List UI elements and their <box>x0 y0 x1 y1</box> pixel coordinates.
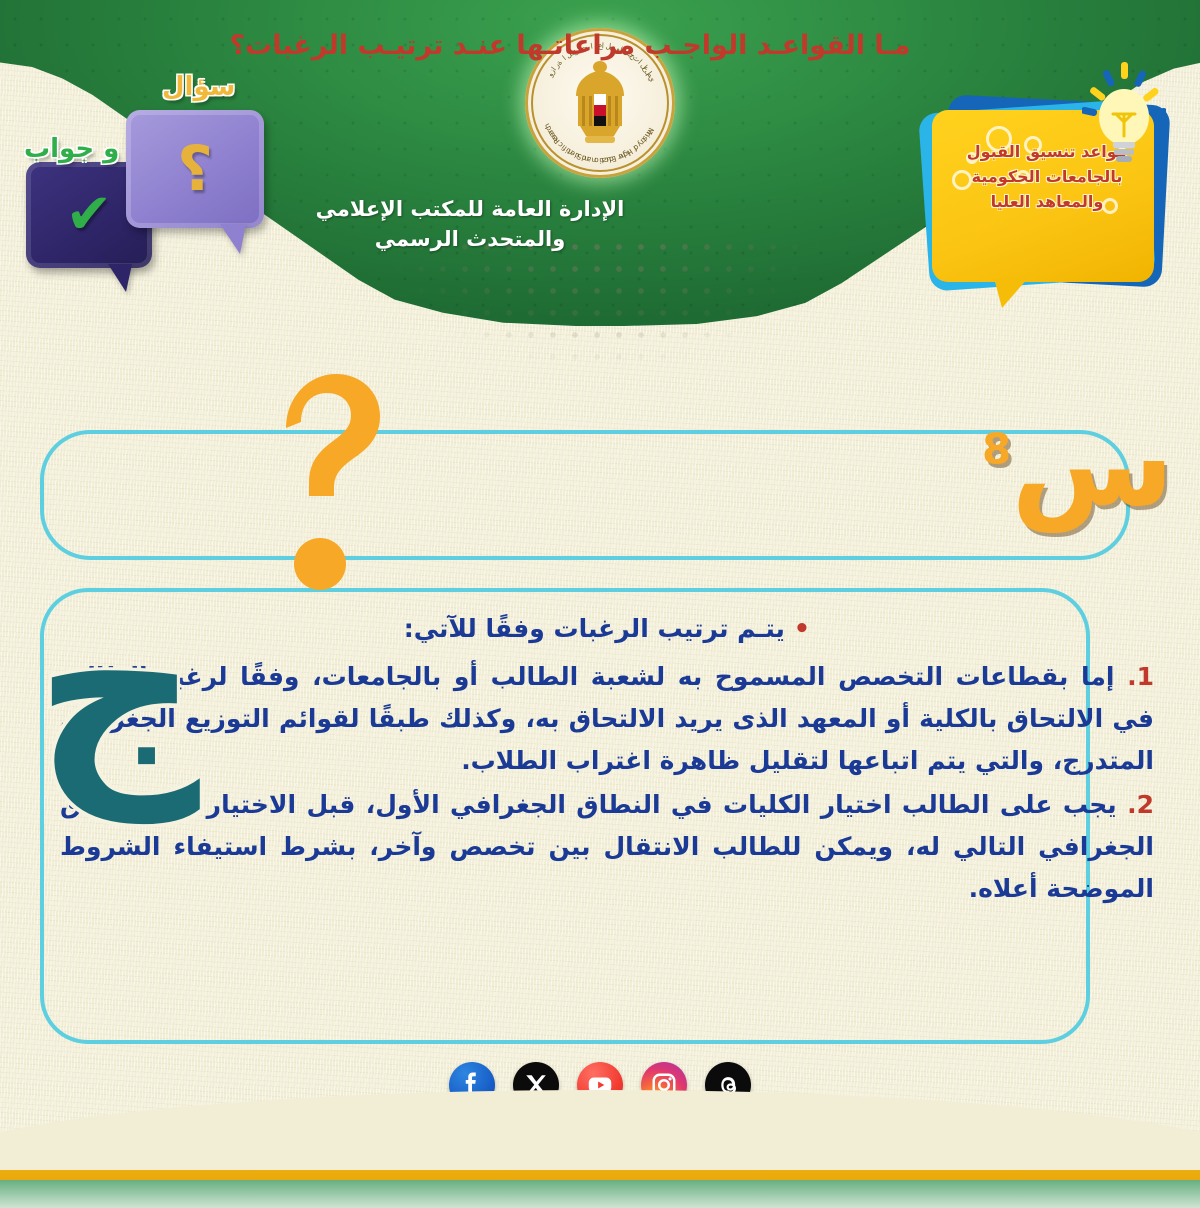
qa-label-answer: و جواب <box>24 134 119 164</box>
question-speech-bubble: ؟ <box>126 110 264 228</box>
lightbulb-icon <box>1082 62 1166 166</box>
answer-item-1-text: إما بقطاعات التخصص المسموح به لشعبة الطا… <box>60 662 1154 775</box>
answer-item-1: 1. إما بقطاعات التخصص المسموح به لشعبة ا… <box>60 656 1154 782</box>
answer-lead-text: يتـم ترتيب الرغبات وفقًا للآتي: <box>404 614 785 643</box>
answer-item-2-number: 2. <box>1127 790 1154 819</box>
question-box <box>40 430 1130 560</box>
question-text: مـا القواعـد الواجـب مراعاتـها عنـد ترتي… <box>60 24 1080 67</box>
answer-item-2: 2. يجب على الطالب اختيار الكليات في النط… <box>60 784 1154 910</box>
question-mark-icon: ؟ <box>126 138 264 200</box>
qa-label-question: سؤال <box>162 72 235 102</box>
infographic-poster: وزارة التعليم العالى والبحث العلميMinist… <box>0 0 1200 1208</box>
ministry-caption: الإدارة العامة للمكتب الإعلامي والمتحدث … <box>260 194 680 255</box>
answer-body: • يتـم ترتيب الرغبات وفقًا للآتي: 1. إما… <box>60 608 1154 912</box>
bullet-icon: • <box>794 614 811 644</box>
answer-lead-line: • يتـم ترتيب الرغبات وفقًا للآتي: <box>60 608 1154 652</box>
answer-marker: ج <box>34 600 200 779</box>
ministry-caption-line1: الإدارة العامة للمكتب الإعلامي <box>260 194 680 224</box>
topic-badge-line2: بالجامعات الحكومية <box>926 165 1168 190</box>
answer-item-1-number: 1. <box>1127 662 1154 691</box>
question-marker-number: 8 <box>982 425 1011 474</box>
question-marker-letter: س <box>1011 394 1174 532</box>
topic-badge-line3: والمعاهد العليا <box>926 190 1168 215</box>
answer-item-2-text: يجب على الطالب اختيار الكليات في النطاق … <box>60 790 1154 903</box>
large-question-mark-icon <box>262 362 382 592</box>
ministry-caption-line2: والمتحدث الرسمي <box>260 224 680 254</box>
question-marker: س8 <box>982 404 1174 522</box>
topic-badge: قواعد تنسيق القبول بالجامعات الحكومية وا… <box>918 58 1178 308</box>
question-answer-badge: ✔ ؟ سؤال و جواب <box>10 78 280 288</box>
